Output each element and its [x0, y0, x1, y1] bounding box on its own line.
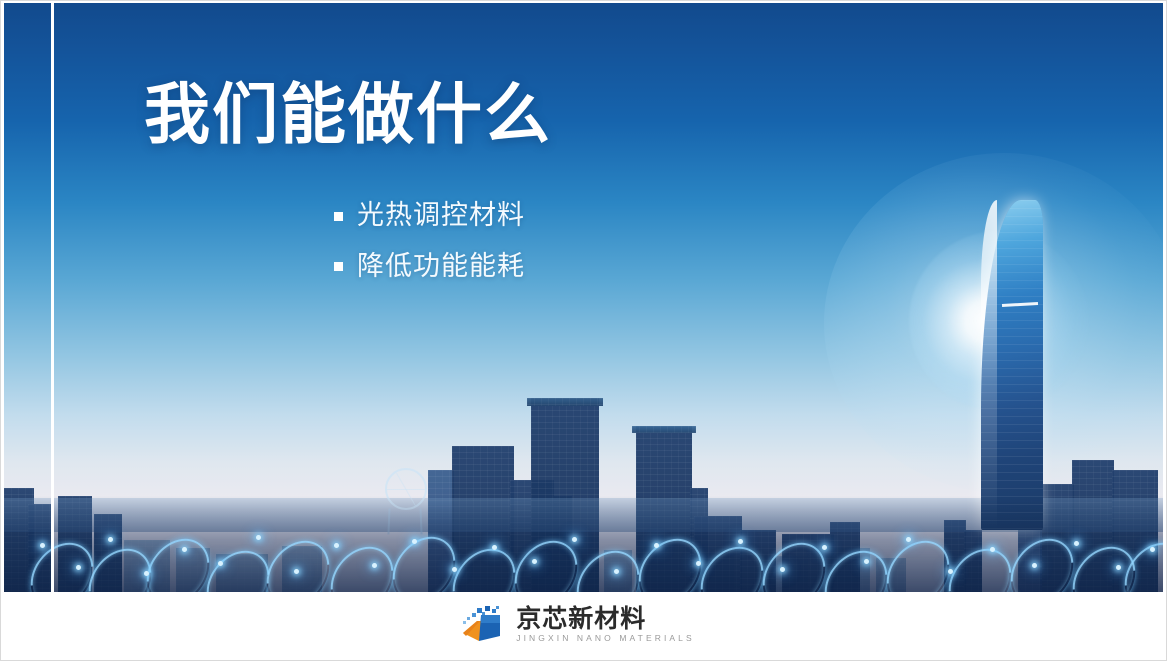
- page-title: 我们能做什么: [144, 79, 552, 150]
- list-item-label: 降低功能能耗: [357, 246, 525, 287]
- presentation-slide: 我们能做什么 光热调控材料 降低功能能耗: [0, 0, 1167, 661]
- curved-skyscraper: [981, 200, 1043, 530]
- list-item-label: 光热调控材料: [357, 195, 525, 236]
- list-item: 光热调控材料: [334, 195, 525, 236]
- logo-name-en: JINGXIN NANO MATERIALS: [516, 634, 695, 643]
- light-trail-arcs: [4, 502, 1163, 592]
- slide-footer: 京芯新材料 JINGXIN NANO MATERIALS: [4, 592, 1163, 657]
- jingxin-logo-mark-icon: [460, 605, 506, 645]
- square-bullet-icon: [334, 262, 343, 271]
- list-item: 降低功能能耗: [334, 246, 525, 287]
- city-skyline: [4, 332, 1163, 592]
- company-logo: 京芯新材料 JINGXIN NANO MATERIALS: [460, 605, 695, 645]
- vertical-divider-line: [51, 3, 54, 592]
- logo-name-cn: 京芯新材料: [516, 607, 695, 632]
- bullet-list: 光热调控材料 降低功能能耗: [334, 195, 525, 296]
- logo-text-block: 京芯新材料 JINGXIN NANO MATERIALS: [516, 607, 695, 642]
- slide-background-image: 我们能做什么 光热调控材料 降低功能能耗: [4, 3, 1163, 592]
- square-bullet-icon: [334, 212, 343, 221]
